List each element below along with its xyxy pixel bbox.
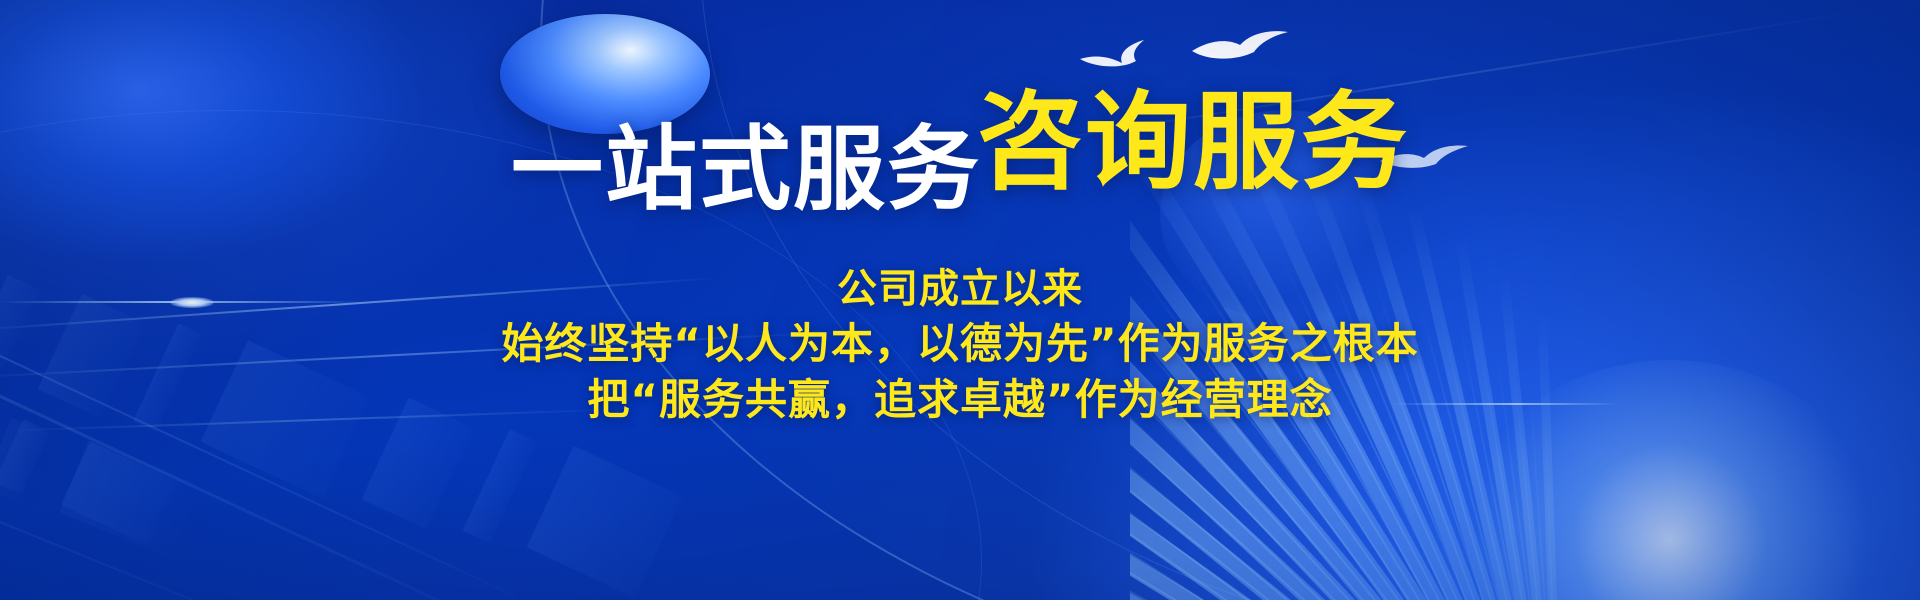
fan-ray-thin: [1130, 582, 1560, 600]
fan-ray-thin: [1130, 558, 1560, 600]
headline-accent: 咨询服务: [977, 81, 1409, 204]
headline-primary: 一站式服务: [511, 116, 981, 223]
fan-ray-thin: [1130, 487, 1560, 600]
bird-icon-2: [1188, 28, 1294, 64]
fan-ray-thin: [1130, 441, 1561, 600]
fan-ray: [1130, 440, 1564, 600]
fan-ray: [1130, 554, 1563, 600]
fan-ray-thin: [1130, 398, 1561, 600]
headline: 一站式服务咨询服务: [0, 78, 1920, 232]
fan-ray-thin: [1130, 419, 1561, 600]
fan-ray: [1130, 497, 1563, 600]
subtitle-line-2: 始终坚持“以人为本，以德为先”作为服务之根本: [0, 316, 1920, 372]
fan-ray-thin: [1130, 463, 1561, 600]
promo-banner: 一站式服务咨询服务 公司成立以来 始终坚持“以人为本，以德为先”作为服务之根本 …: [0, 0, 1920, 600]
subtitle-line-3: 把“服务共赢，追求卓越”作为经营理念: [0, 372, 1920, 428]
bird-icon-1: [1078, 38, 1174, 72]
fan-ray-thin: [1544, 400, 1561, 600]
subtitle-block: 公司成立以来 始终坚持“以人为本，以德为先”作为服务之根本 把“服务共赢，追求卓…: [0, 262, 1920, 428]
fan-ray-thin: [1130, 510, 1560, 600]
subtitle-line-1: 公司成立以来: [0, 262, 1920, 316]
fan-ray-thin: [1130, 534, 1560, 600]
